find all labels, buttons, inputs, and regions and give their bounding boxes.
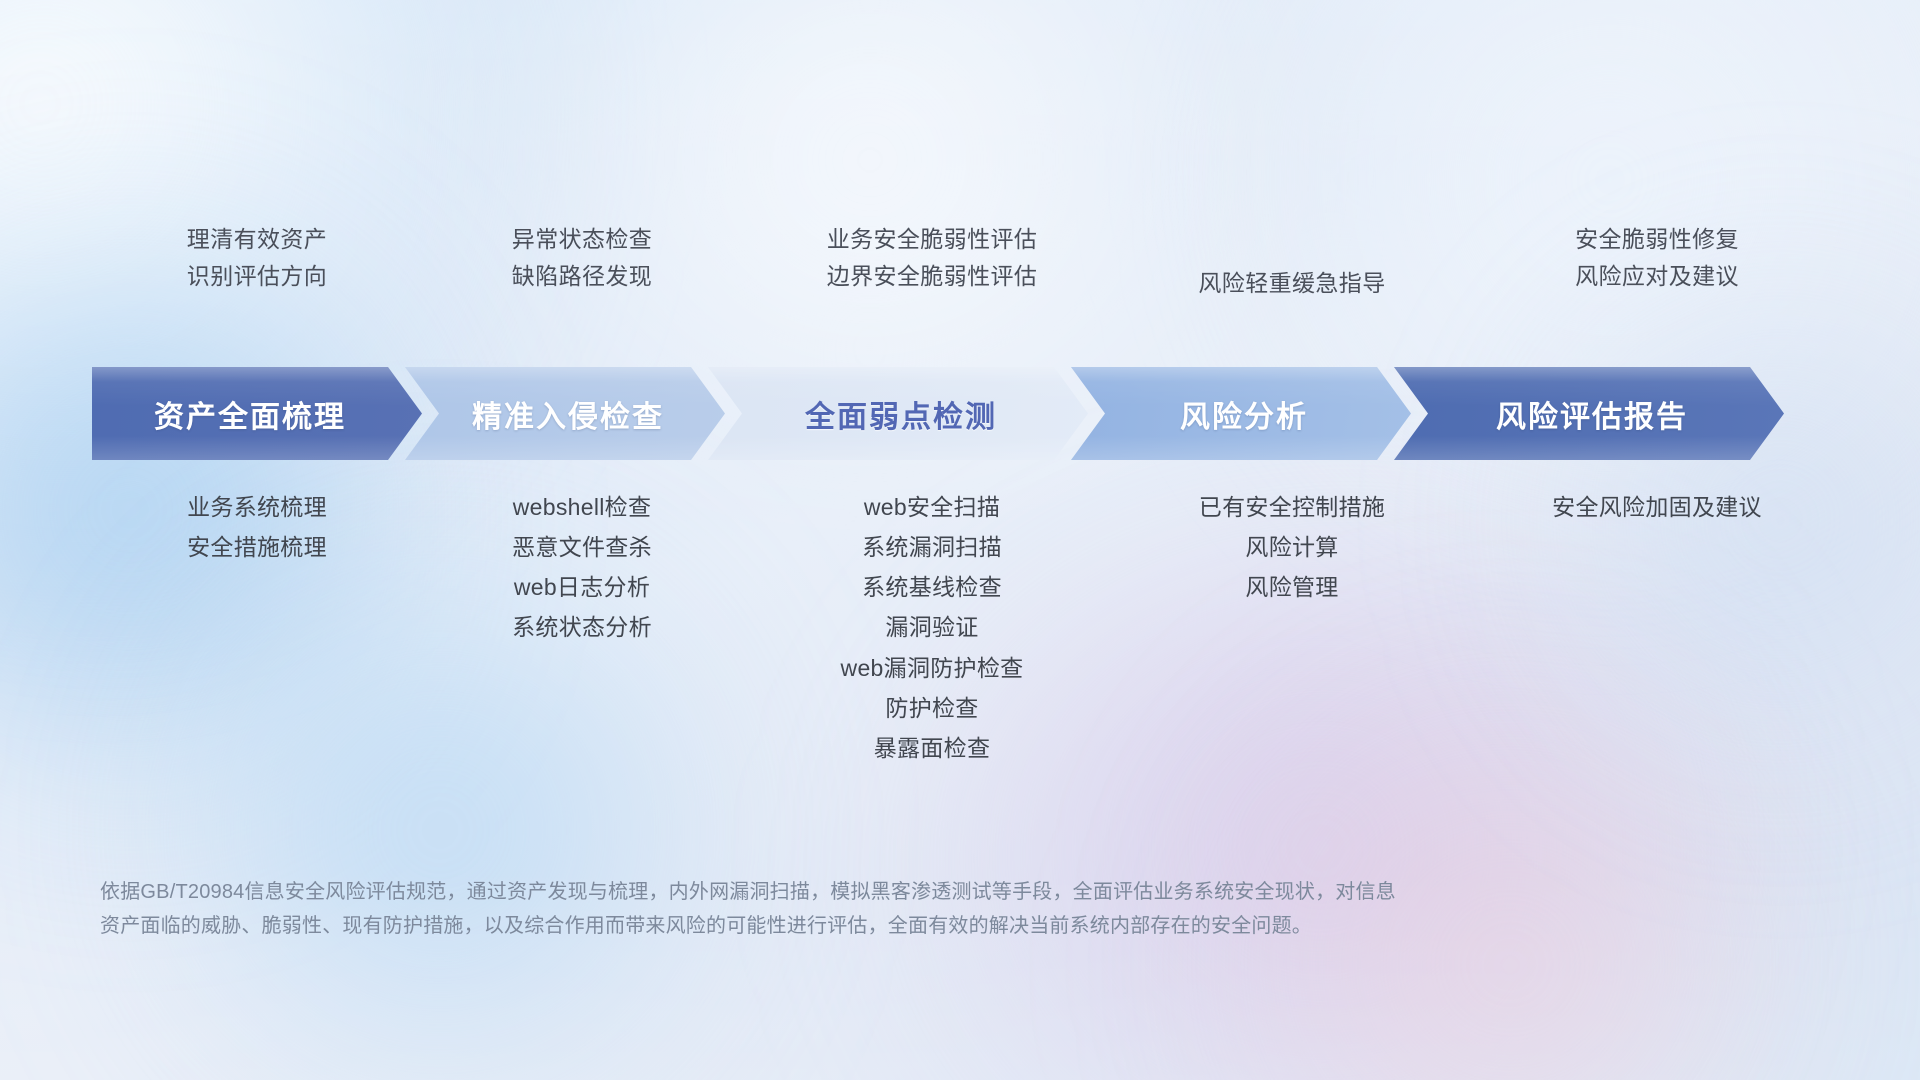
chevron-stage-assessment-report[interactable]: 风险评估报告 (1394, 367, 1784, 460)
bottom-list-item: 系统漏洞扫描 (862, 535, 1002, 559)
chevron-label-risk-analysis: 风险分析 (1180, 392, 1308, 436)
bottom-detail-row: 业务系统梳理安全措施梳理webshell检查恶意文件查杀web日志分析系统状态分… (92, 495, 1852, 760)
bottom-list-item: webshell检查 (513, 495, 652, 519)
footer-line-2: 资产面临的威胁、脆弱性、现有防护措施，以及综合作用而带来风险的可能性进行评估，全… (100, 909, 1640, 943)
top-caption-group-intrusion-check: 异常状态检查缺陷路径发现 (422, 228, 742, 338)
bottom-list-assessment-report: 安全风险加固及建议 (1462, 495, 1852, 760)
bottom-list-intrusion-check: webshell检查恶意文件查杀web日志分析系统状态分析 (422, 495, 742, 760)
bottom-list-asset-inventory: 业务系统梳理安全措施梳理 (92, 495, 422, 760)
bottom-list-weakness-detection: web安全扫描系统漏洞扫描系统基线检查漏洞验证web漏洞防护检查防护检查暴露面检… (742, 495, 1122, 760)
bottom-list-item: 系统状态分析 (512, 615, 652, 639)
bottom-list-item: 漏洞验证 (885, 615, 978, 639)
bottom-list-item: 风险管理 (1245, 575, 1338, 599)
chevron-label-asset-inventory: 资产全面梳理 (154, 392, 346, 436)
chevron-stage-intrusion-check[interactable]: 精准入侵检查 (405, 367, 725, 460)
bottom-list-item: web安全扫描 (864, 495, 1000, 519)
top-caption-group-assessment-report: 安全脆弱性修复风险应对及建议 (1462, 228, 1852, 338)
top-caption-line: 业务安全脆弱性评估 (827, 228, 1038, 251)
bottom-list-item: 风险计算 (1245, 535, 1338, 559)
chevron-banner: 资产全面梳理精准入侵检查全面弱点检测风险分析风险评估报告 (92, 367, 1852, 460)
chevron-stage-weakness-detection[interactable]: 全面弱点检测 (708, 367, 1088, 460)
top-caption-group-weakness-detection: 业务安全脆弱性评估边界安全脆弱性评估 (742, 228, 1122, 338)
bottom-list-item: 系统基线检查 (862, 575, 1002, 599)
top-caption-line: 识别评估方向 (187, 265, 327, 288)
bottom-list-item: web日志分析 (514, 575, 650, 599)
bottom-list-item: 业务系统梳理 (187, 495, 327, 519)
top-caption-line: 安全脆弱性修复 (1575, 228, 1739, 251)
bottom-list-item: 暴露面检查 (874, 736, 991, 760)
chevron-label-weakness-detection: 全面弱点检测 (805, 392, 997, 436)
top-caption-line: 异常状态检查 (512, 228, 652, 251)
chevron-stage-risk-analysis[interactable]: 风险分析 (1071, 367, 1411, 460)
top-caption-line: 边界安全脆弱性评估 (827, 265, 1038, 288)
top-caption-line: 风险轻重缓急指导 (1198, 272, 1385, 295)
top-caption-line: 理清有效资产 (187, 228, 327, 251)
bottom-list-item: 安全措施梳理 (187, 535, 327, 559)
bottom-list-risk-analysis: 已有安全控制措施风险计算风险管理 (1122, 495, 1462, 760)
process-diagram: 理清有效资产识别评估方向异常状态检查缺陷路径发现业务安全脆弱性评估边界安全脆弱性… (0, 0, 1920, 1080)
bottom-list-item: 恶意文件查杀 (512, 535, 652, 559)
footer-description: 依据GB/T20984信息安全风险评估规范，通过资产发现与梳理，内外网漏洞扫描，… (100, 875, 1640, 944)
chevron-label-intrusion-check: 精准入侵检查 (472, 392, 664, 436)
bottom-list-item: 安全风险加固及建议 (1552, 495, 1762, 519)
top-caption-line: 风险应对及建议 (1575, 265, 1739, 288)
bottom-list-item: web漏洞防护检查 (841, 656, 1024, 680)
bottom-list-item: 防护检查 (885, 696, 978, 720)
chevron-label-assessment-report: 风险评估报告 (1496, 392, 1688, 436)
footer-line-1: 依据GB/T20984信息安全风险评估规范，通过资产发现与梳理，内外网漏洞扫描，… (100, 875, 1640, 909)
top-caption-group-risk-analysis: 风险轻重缓急指导 (1122, 228, 1462, 338)
bottom-list-item: 已有安全控制措施 (1199, 495, 1385, 519)
top-caption-group-asset-inventory: 理清有效资产识别评估方向 (92, 228, 422, 338)
top-caption-line: 缺陷路径发现 (512, 265, 652, 288)
top-captions-row: 理清有效资产识别评估方向异常状态检查缺陷路径发现业务安全脆弱性评估边界安全脆弱性… (92, 228, 1852, 338)
chevron-stage-asset-inventory[interactable]: 资产全面梳理 (92, 367, 422, 460)
